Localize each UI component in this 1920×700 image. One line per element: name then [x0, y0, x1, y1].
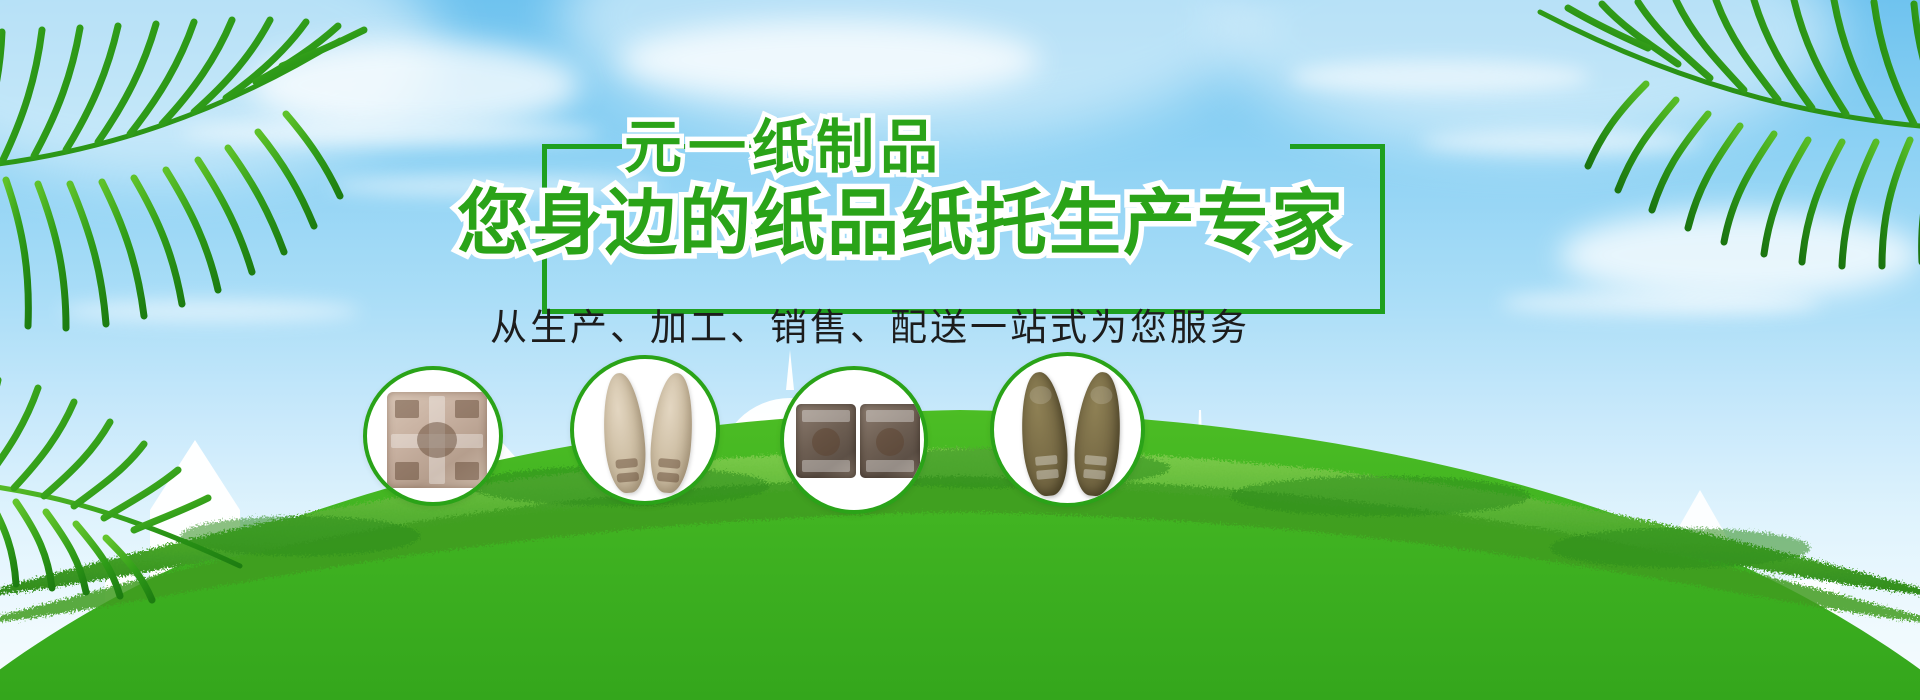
product-paper-insole-dark-right [1071, 370, 1126, 497]
product-circle-3[interactable] [780, 366, 928, 514]
product-paper-insole-dark-left [1017, 370, 1072, 497]
product-circle-2[interactable] [570, 355, 720, 505]
palm-frond-left [0, 0, 400, 370]
product-square-pulp-tray [387, 392, 487, 488]
product-double-pulp-tray-right [860, 404, 920, 478]
banner-subtitle: 从生产、加工、销售、配送一站式为您服务 [490, 297, 1250, 351]
headline-secondary: 您身边的纸品纸托生产专家 [457, 164, 1345, 269]
headline-block: 元一纸制品 您身边的纸品纸托生产专家 从生产、加工、销售、配送一站式为您服务 [432, 92, 1388, 314]
product-circle-1[interactable] [363, 366, 503, 506]
headline-frame-rule-right [1290, 144, 1385, 149]
product-double-pulp-tray-left [796, 404, 856, 478]
promo-banner: 元一纸制品 您身边的纸品纸托生产专家 从生产、加工、销售、配送一站式为您服务 [0, 0, 1920, 700]
product-paper-insole-left [599, 371, 649, 494]
palm-frond-right [1500, 0, 1920, 290]
product-circle-4[interactable] [990, 352, 1145, 507]
product-paper-insole-right [647, 371, 697, 494]
palm-frond-left-lower [0, 330, 270, 610]
